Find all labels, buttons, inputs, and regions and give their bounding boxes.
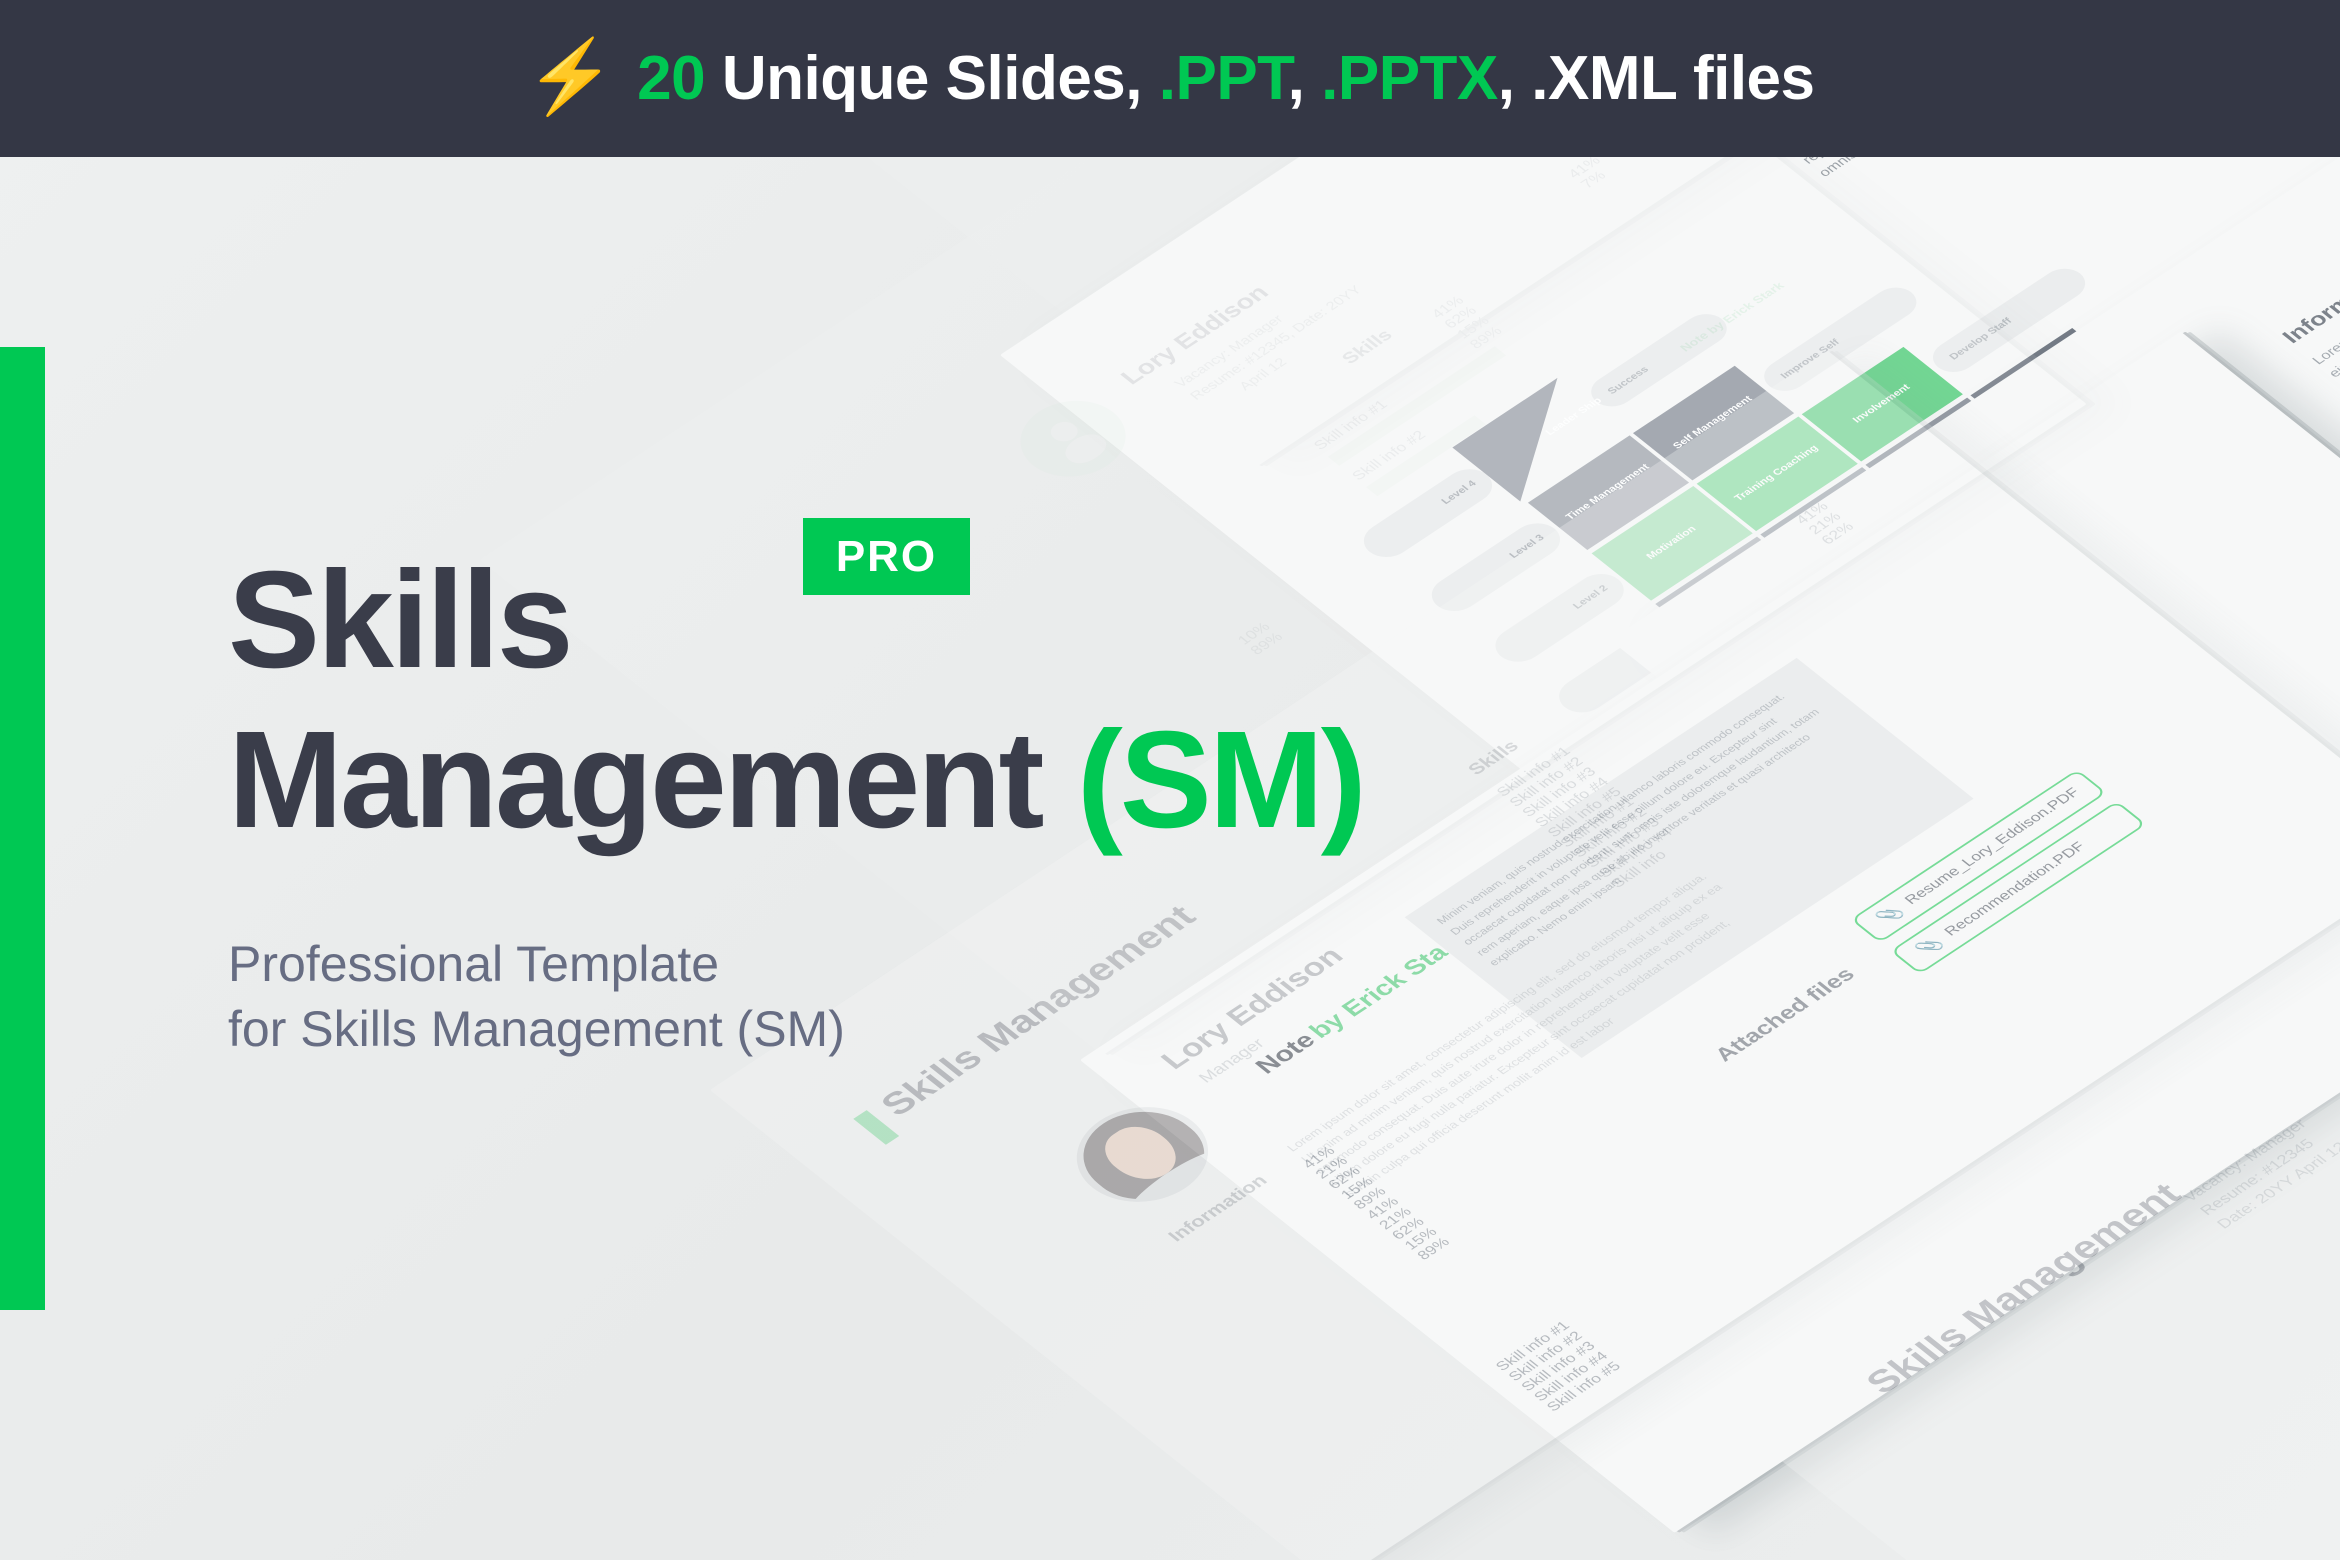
lightning-bolt-icon: ⚡ [525, 41, 615, 113]
pro-badge-label: PRO [836, 532, 937, 582]
note-text: Note by Erick Stark [1677, 280, 1787, 354]
pro-badge: PRO [803, 518, 970, 595]
banner-mid-text: Unique Slides, [705, 44, 1159, 113]
page-tagline: Professional Template for Skills Managem… [228, 932, 1364, 1062]
tagline-line-1: Professional Template [228, 932, 1364, 997]
title-abbrev: (SM) [1077, 703, 1364, 857]
accent-bar [0, 347, 45, 1310]
title-line-2: Management [228, 703, 1077, 857]
skills-label: Skills [1338, 326, 1398, 368]
banner-comma-1: , [1288, 44, 1321, 113]
percent-column: 41% 7% [1565, 154, 1617, 192]
resume-text: Resume: #12345, Date: 20YY [1187, 283, 1365, 403]
hero-block: PRO Skills Management (SM) Professional … [228, 540, 1364, 1062]
banner-text: 20 Unique Slides, .PPT, .PPTX, .XML file… [637, 43, 1814, 114]
format-ppt: .PPT [1159, 44, 1288, 113]
avatar-photo [1050, 1088, 1235, 1222]
title-line-1: Skills [228, 543, 571, 697]
promo-banner: ⚡ 20 Unique Slides, .PPT, .PPTX, .XML fi… [0, 0, 2340, 157]
format-pptx: .PPTX [1321, 44, 1498, 113]
tagline-line-2: for Skills Management (SM) [228, 997, 1364, 1062]
avatar-placeholder [999, 385, 1147, 492]
banner-comma-2: , [1498, 44, 1531, 113]
format-xml-files: .XML files [1531, 44, 1814, 113]
page-title: Skills Management (SM) [228, 540, 1364, 860]
information-label: Information [2277, 259, 2340, 348]
slide-accent-bar [853, 1110, 899, 1145]
slide-count: 20 [637, 44, 705, 113]
